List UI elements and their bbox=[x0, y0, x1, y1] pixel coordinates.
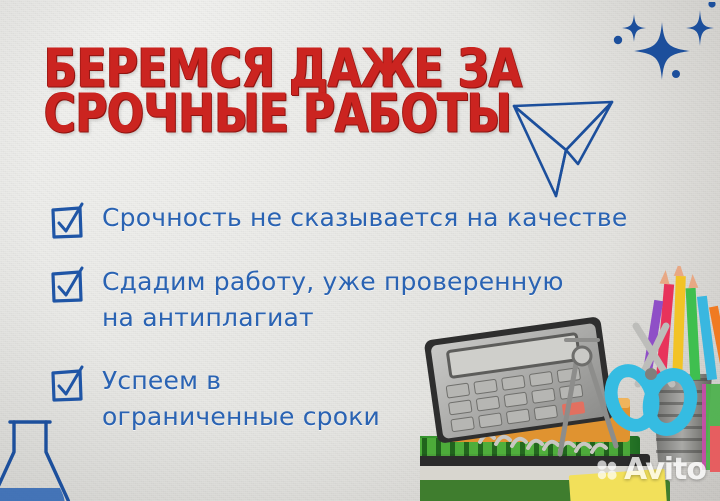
list-item-label: Срочность не сказывается на качестве bbox=[102, 200, 627, 236]
poster-image: БЕРЕМСЯ ДАЖЕ ЗА СРОЧНЫЕ РАБОТЫ Срочность… bbox=[0, 0, 720, 501]
avito-watermark-text: Avito bbox=[624, 452, 706, 487]
headline-line-2: СРОЧНЫЕ РАБОТЫ bbox=[44, 89, 522, 138]
list-item-label: Успеем в ограниченные сроки bbox=[102, 363, 380, 434]
checklist: Срочность не сказывается на качестве Сда… bbox=[48, 200, 688, 450]
checked-checkbox-icon bbox=[48, 266, 88, 308]
list-item: Успеем в ограниченные сроки bbox=[48, 363, 688, 434]
sparkle-stars-doodle bbox=[612, 2, 720, 102]
avito-watermark: Avito bbox=[596, 452, 706, 487]
checked-checkbox-icon bbox=[48, 202, 88, 244]
list-item: Срочность не сказывается на качестве bbox=[48, 200, 688, 244]
list-item: Сдадим работу, уже проверенную на антипл… bbox=[48, 264, 688, 335]
checked-checkbox-icon bbox=[48, 365, 88, 407]
avito-logo-icon bbox=[596, 459, 618, 481]
list-item-label: Сдадим работу, уже проверенную на антипл… bbox=[102, 264, 564, 335]
headline: БЕРЕМСЯ ДАЖЕ ЗА СРОЧНЫЕ РАБОТЫ bbox=[44, 44, 537, 131]
